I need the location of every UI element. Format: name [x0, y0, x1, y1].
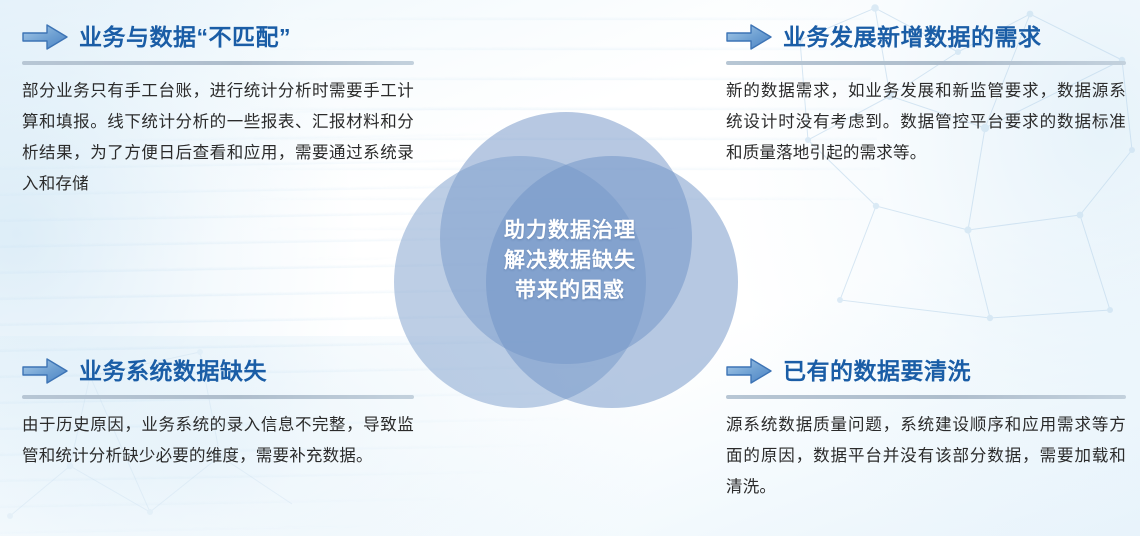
- block-bottom-left-body: 由于历史原因，业务系统的录入信息不完整，导致监管和统计分析缺少必要的维度，需要补…: [22, 410, 414, 472]
- center-label-line-3: 带来的困惑: [394, 276, 746, 306]
- center-label: 助力数据治理 解决数据缺失 带来的困惑: [394, 216, 746, 305]
- block-bottom-right: 已有的数据要清洗 源系统数据质量问题，系统建设顺序和应用需求等方面的原因，数据平…: [726, 352, 1126, 520]
- block-top-right-header: 业务发展新增数据的需求: [726, 18, 1126, 56]
- block-top-right-body: 新的数据需求，如业务发展和新监管要求，数据源系统设计时没有考虑到。数据管控平台要…: [726, 76, 1126, 169]
- center-label-line-2: 解决数据缺失: [394, 246, 746, 276]
- block-bottom-left-divider: [22, 395, 414, 399]
- block-bottom-right-header: 已有的数据要清洗: [726, 352, 1126, 390]
- center-label-line-1: 助力数据治理: [394, 216, 746, 246]
- block-top-left-header: 业务与数据“不匹配”: [22, 18, 414, 56]
- block-top-left-divider: [22, 61, 414, 65]
- center-venn-graphic: 助力数据治理 解决数据缺失 带来的困惑: [394, 112, 746, 408]
- infographic-slide: 助力数据治理 解决数据缺失 带来的困惑 业务与数据“不匹配” 部分业务只有手工台…: [0, 0, 1140, 536]
- block-top-right: 业务发展新增数据的需求 新的数据需求，如业务发展和新监管要求，数据源系统设计时没…: [726, 18, 1126, 186]
- block-top-right-heading: 业务发展新增数据的需求: [783, 26, 1042, 49]
- block-top-left-body: 部分业务只有手工台账，进行统计分析时需要手工计算和填报。线下统计分析的一些报表、…: [22, 76, 414, 200]
- block-bottom-left-heading: 业务系统数据缺失: [79, 360, 267, 383]
- block-bottom-left-header: 业务系统数据缺失: [22, 352, 414, 390]
- block-bottom-left: 业务系统数据缺失 由于历史原因，业务系统的录入信息不完整，导致监管和统计分析缺少…: [22, 352, 414, 489]
- block-arrow-right-icon: [22, 356, 68, 386]
- block-arrow-right-icon: [726, 356, 772, 386]
- block-top-right-divider: [726, 61, 1126, 65]
- block-bottom-right-heading: 已有的数据要清洗: [783, 360, 971, 383]
- block-top-left: 业务与数据“不匹配” 部分业务只有手工台账，进行统计分析时需要手工计算和填报。线…: [22, 18, 414, 217]
- block-bottom-right-body: 源系统数据质量问题，系统建设顺序和应用需求等方面的原因，数据平台并没有该部分数据…: [726, 410, 1126, 503]
- block-arrow-right-icon: [726, 22, 772, 52]
- block-arrow-right-icon: [22, 22, 68, 52]
- block-top-left-heading: 业务与数据“不匹配”: [79, 26, 291, 49]
- block-bottom-right-divider: [726, 395, 1126, 399]
